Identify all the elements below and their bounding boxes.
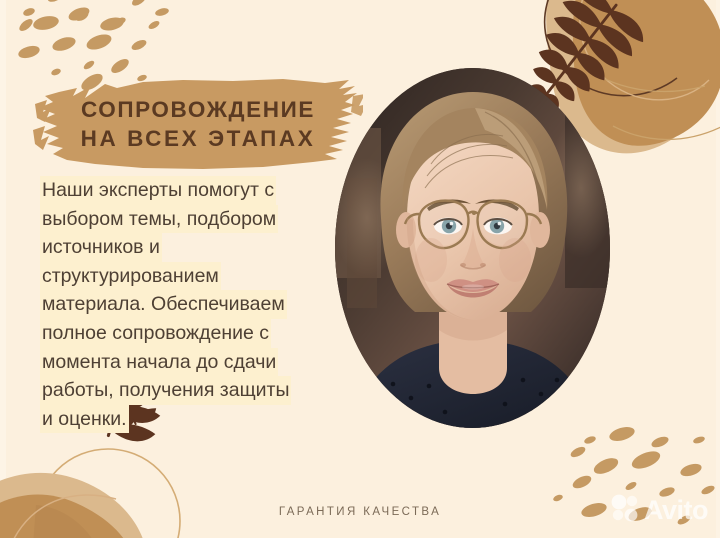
body-line: момента начала до сдачи	[40, 348, 278, 377]
banner-heading-line1: СОПРОВОЖДЕНИЕ	[81, 97, 315, 122]
body-line: структурированием	[40, 262, 221, 291]
body-line: выбором темы, подбором	[40, 205, 278, 234]
portrait-photo	[335, 68, 610, 428]
avito-logo-icon	[610, 493, 640, 528]
right-edge-band	[716, 0, 720, 538]
body-line: и оценки.	[40, 405, 129, 434]
avito-wordmark: Avito	[644, 497, 708, 524]
poster-canvas: СОПРОВОЖДЕНИЕ НА ВСЕХ ЭТАПАХ Наши экспер…	[0, 0, 720, 538]
body-line: Наши эксперты помогут с	[40, 176, 276, 205]
body-line: источников и	[40, 233, 162, 262]
body-line: полное сопровождение с	[40, 319, 271, 348]
left-edge-band	[0, 0, 6, 538]
body-line: материала. Обеспечиваем	[40, 290, 287, 319]
avito-watermark: Avito	[610, 493, 708, 528]
body-paragraph: Наши эксперты помогут с выбором темы, по…	[40, 176, 310, 433]
banner-heading: СОПРОВОЖДЕНИЕ НА ВСЕХ ЭТАПАХ	[33, 74, 363, 174]
banner-heading-line2: НА ВСЕХ ЭТАПАХ	[81, 126, 316, 151]
body-line: работы, получения защиты	[40, 376, 291, 405]
